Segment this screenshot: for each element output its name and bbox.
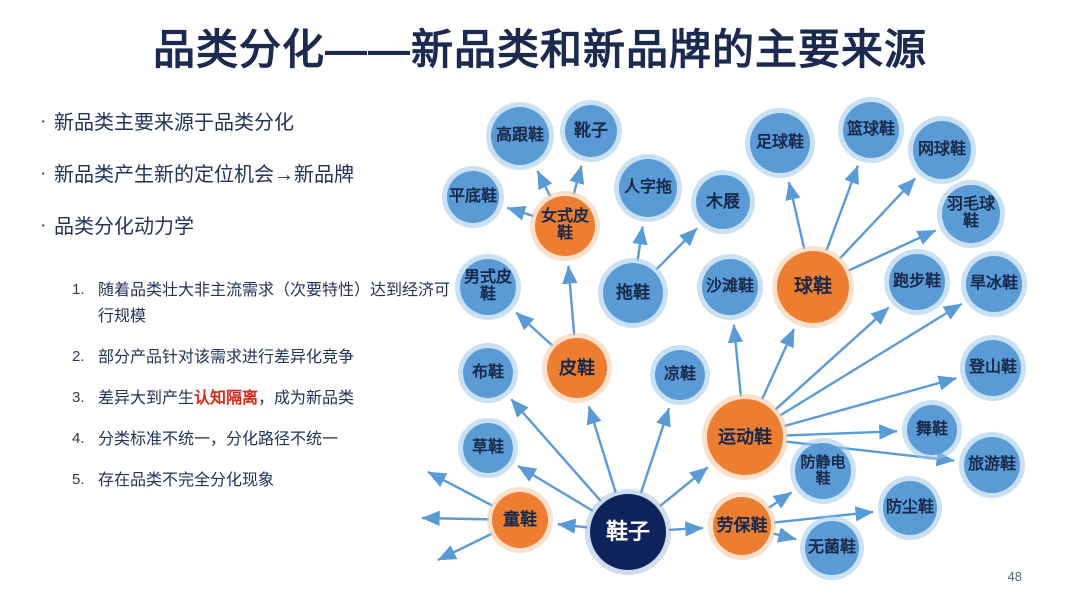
numbered-item: 3.差异大到产生认知隔离，成为新品类 [72, 386, 462, 412]
diagram-node-label: 羽毛球鞋 [942, 197, 1000, 231]
edge-pixie-to-nanshipixie [516, 313, 552, 346]
numbered-item-index: 5. [72, 468, 98, 492]
diagram-node-label: 鞋子 [604, 520, 652, 543]
diagram-node-label: 篮球鞋 [845, 122, 897, 139]
diagram-node-label: 劳保鞋 [715, 517, 770, 535]
diagram-node-wujunxie[interactable]: 无菌鞋 [805, 521, 859, 575]
diagram-node-label: 高跟鞋 [494, 128, 546, 145]
diagram-node-lanqiuxie[interactable]: 篮球鞋 [843, 102, 899, 158]
edge-yundongxie-to-wuxie [786, 431, 897, 435]
diagram-node-qiuxie[interactable]: 球鞋 [777, 251, 849, 323]
diagram-node-wuxie[interactable]: 舞鞋 [907, 405, 957, 455]
diagram-node-label: 女式皮鞋 [535, 209, 595, 243]
numbered-item-text-pre: 分类标准不统一，分化路径不统一 [98, 431, 338, 448]
numbered-item: 2.部分产品针对该需求进行差异化竞争 [72, 345, 462, 371]
diagram-node-xuezi[interactable]: 靴子 [565, 105, 617, 157]
numbered-item: 5.存在品类不完全分化现象 [72, 468, 462, 494]
diagram-node-label: 平底鞋 [447, 189, 499, 206]
diagram-node-label: 网球鞋 [916, 142, 968, 159]
numbered-item-text: 随着品类壮大非主流需求（次要特性）达到经济可行规模 [98, 278, 462, 330]
bullet-item: ·品类分化动力学 [40, 214, 440, 240]
bullet-item: ·新品类主要来源于品类分化 [40, 110, 440, 136]
numbered-item-index: 3. [72, 386, 98, 410]
edge-pixie-to-nvshipixie [568, 266, 574, 335]
slide-canvas: 品类分化——新品类和新品牌的主要来源 ·新品类主要来源于品类分化·新品类产生新的… [0, 0, 1080, 598]
open-edge-tongxie-0 [428, 472, 493, 506]
edge-xiezi-to-tongxie [558, 524, 587, 527]
edge-nvshipixie-to-xuezi [574, 166, 582, 194]
diagram-node-label: 男式皮鞋 [460, 270, 516, 304]
bullet-marker-icon: · [40, 110, 54, 134]
bullet-marker-icon: · [40, 162, 54, 186]
numbered-item-text: 部分产品针对该需求进行差异化竞争 [98, 345, 354, 371]
bullet-text: 新品类产生新的定位机会→新品牌 [54, 162, 354, 188]
edge-xiezi-to-buxie [511, 399, 601, 501]
numbered-item-text-pre: 部分产品针对该需求进行差异化竞争 [98, 349, 354, 366]
edge-xiezi-to-liangxie [641, 408, 669, 493]
page-number: 48 [1008, 569, 1022, 584]
diagram-node-label: 拖鞋 [614, 284, 652, 302]
diagram-node-gaogenxie[interactable]: 高跟鞋 [491, 107, 549, 165]
bullet-text: 新品类主要来源于品类分化 [54, 110, 294, 136]
diagram-node-tongxie[interactable]: 童鞋 [492, 492, 548, 548]
diagram-node-label: 人字拖 [622, 180, 674, 197]
numbered-item-text-pre: 存在品类不完全分化现象 [98, 472, 274, 489]
edge-yundongxie-to-shatanxie [734, 325, 741, 396]
diagram-node-tuoxie[interactable]: 拖鞋 [603, 263, 663, 323]
diagram-node-zuqiuxie[interactable]: 足球鞋 [750, 113, 810, 173]
diagram-node-label: 沙滩鞋 [704, 279, 756, 296]
edge-laobaoxie-to-wujunxie [773, 534, 796, 540]
numbered-item-text-post: ，成为新品类 [258, 390, 354, 407]
edge-nvshipixie-to-pingdixie [507, 208, 533, 216]
diagram-node-label: 布鞋 [470, 365, 506, 382]
diagram-node-xiezi[interactable]: 鞋子 [590, 494, 666, 570]
numbered-item-index: 4. [72, 427, 98, 451]
diagram-node-fangjingdian[interactable]: 防静电鞋 [795, 443, 851, 499]
diagram-node-yundongxie[interactable]: 运动鞋 [707, 399, 783, 475]
bullet-marker-icon: · [40, 214, 54, 238]
diagram-node-label: 球鞋 [792, 277, 834, 297]
edge-yundongxie-to-qiuxie [762, 329, 794, 400]
diagram-node-liangxie[interactable]: 凉鞋 [655, 350, 705, 400]
open-edge-tongxie-1 [422, 518, 489, 519]
numbered-item-text-pre: 差异大到产生 [98, 390, 194, 407]
diagram-node-renziтuo[interactable]: 人字拖 [619, 159, 677, 217]
diagram-node-lvyouxie[interactable]: 旅游鞋 [964, 437, 1020, 493]
edge-xiezi-to-laobaoxie [669, 528, 703, 530]
diagram-node-label: 靴子 [572, 122, 610, 140]
diagram-node-laobaoxie[interactable]: 劳保鞋 [713, 497, 771, 555]
diagram-node-yumaoqiu[interactable]: 羽毛球鞋 [942, 185, 1000, 243]
diagram-node-label: 童鞋 [501, 511, 539, 529]
diagram-node-caoxie[interactable]: 草鞋 [463, 423, 513, 473]
diagram-node-label: 登山鞋 [967, 360, 1019, 377]
numbered-item-highlight: 认知隔离 [194, 390, 258, 407]
diagram-node-nanshipixie[interactable]: 男式皮鞋 [460, 259, 516, 315]
edge-qiuxie-to-wangqiuxie [840, 178, 916, 258]
numbered-item-index: 2. [72, 345, 98, 369]
diagram-node-pixie[interactable]: 皮鞋 [547, 338, 607, 398]
numbered-item-text-pre: 随着品类壮大非主流需求（次要特性）达到经济可行规模 [98, 282, 450, 325]
edge-laobaoxie-to-fangchenxie [774, 512, 873, 523]
diagram-node-hanbingxie[interactable]: 旱冰鞋 [966, 256, 1022, 312]
edge-laobaoxie-to-fangjingdian [768, 492, 791, 508]
diagram-node-label: 旅游鞋 [966, 457, 1018, 474]
diagram-node-nvshipixie[interactable]: 女式皮鞋 [535, 196, 595, 256]
diagram-node-label: 足球鞋 [754, 135, 806, 152]
bullet-list: ·新品类主要来源于品类分化·新品类产生新的定位机会→新品牌·品类分化动力学 [40, 110, 440, 266]
bullet-text: 品类分化动力学 [54, 214, 194, 240]
edge-tuoxie-to-renziтuo [638, 227, 643, 261]
diagram-node-label: 凉鞋 [662, 367, 698, 384]
diagram-node-paobuxie[interactable]: 跑步鞋 [889, 254, 945, 310]
numbered-item: 4.分类标准不统一，分化路径不统一 [72, 427, 462, 453]
diagram-node-label: 草鞋 [470, 440, 506, 457]
edge-xiezi-to-yundongxie [660, 467, 708, 506]
diagram-node-label: 防静电鞋 [795, 455, 851, 487]
diagram-node-shatanxie[interactable]: 沙滩鞋 [702, 259, 758, 315]
numbered-item-text: 差异大到产生认知隔离，成为新品类 [98, 386, 354, 412]
diagram-node-label: 防尘鞋 [884, 500, 936, 517]
numbered-item-text: 分类标准不统一，分化路径不统一 [98, 427, 338, 453]
diagram-node-buxie[interactable]: 布鞋 [463, 348, 513, 398]
diagram-node-muji[interactable]: 木屐 [696, 175, 750, 229]
diagram-node-fangchenxie[interactable]: 防尘鞋 [883, 481, 937, 535]
edge-qiuxie-to-zuqiuxie [789, 182, 804, 249]
numbered-item: 1.随着品类壮大非主流需求（次要特性）达到经济可行规模 [72, 278, 462, 330]
edge-nvshipixie-to-gaogenxie [537, 171, 550, 197]
diagram-node-label: 跑步鞋 [891, 274, 943, 291]
open-edge-tongxie-2 [438, 534, 492, 560]
diagram-node-label: 舞鞋 [914, 422, 950, 439]
diagram-node-label: 无菌鞋 [806, 540, 858, 557]
diagram-node-dengshanxie[interactable]: 登山鞋 [965, 340, 1021, 396]
numbered-item-index: 1. [72, 278, 98, 302]
diagram-node-wangqiuxie[interactable]: 网球鞋 [913, 121, 971, 179]
diagram-node-label: 旱冰鞋 [968, 276, 1020, 293]
edge-tuoxie-to-muji [656, 228, 697, 269]
page-title: 品类分化——新品类和新品牌的主要来源 [0, 16, 1080, 77]
bullet-item: ·新品类产生新的定位机会→新品牌 [40, 162, 440, 188]
numbered-item-text: 存在品类不完全分化现象 [98, 468, 274, 494]
category-divergence-diagram: 鞋子皮鞋布鞋草鞋童鞋凉鞋运动鞋劳保鞋女式皮鞋男式皮鞋平底鞋高跟鞋靴子拖鞋人字拖木… [420, 78, 1080, 598]
edge-xiezi-to-pixie [589, 406, 616, 493]
diagram-node-label: 皮鞋 [557, 359, 597, 378]
diagram-node-label: 木屐 [704, 193, 742, 211]
diagram-node-pingdixie[interactable]: 平底鞋 [447, 171, 499, 223]
edge-qiuxie-to-lanqiuxie [827, 166, 858, 251]
numbered-list: 1.随着品类壮大非主流需求（次要特性）达到经济可行规模2.部分产品针对该需求进行… [72, 278, 462, 509]
diagram-node-label: 运动鞋 [716, 428, 774, 447]
